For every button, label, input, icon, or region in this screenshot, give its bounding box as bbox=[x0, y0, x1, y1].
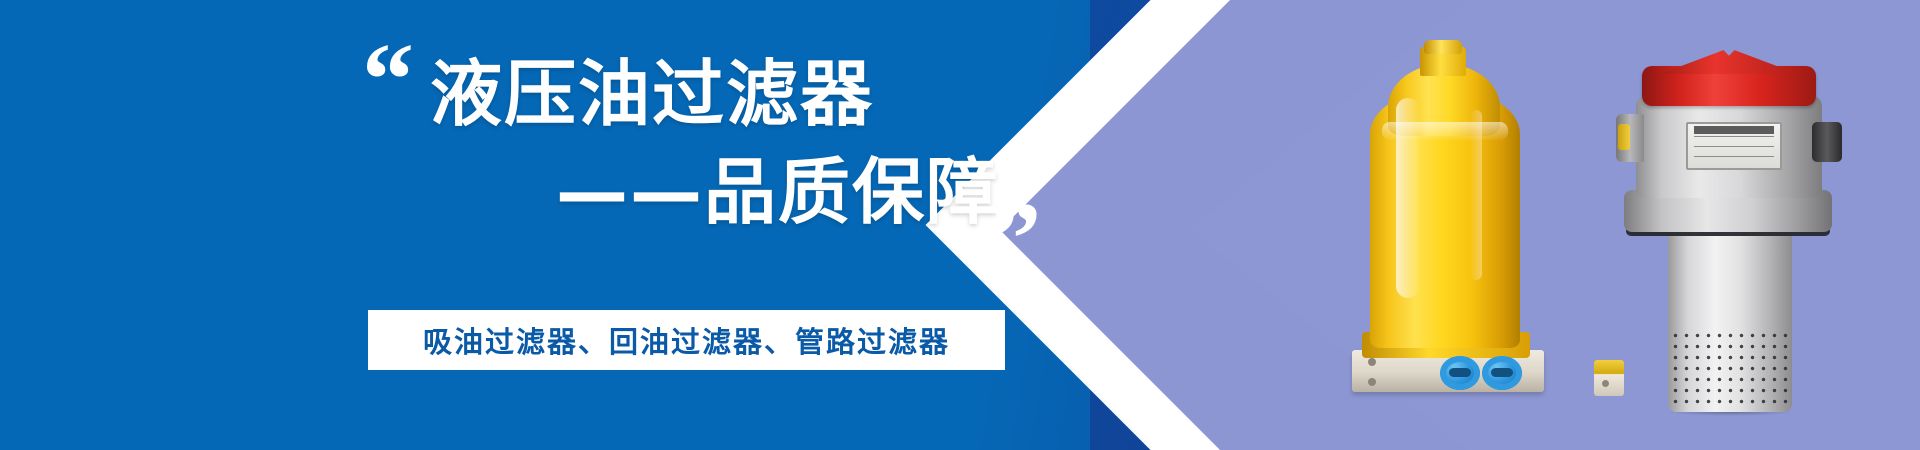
grey-filter-red-cap-peak bbox=[1660, 48, 1798, 74]
yellow-filter-port bbox=[1440, 356, 1480, 390]
headline-block: “ 液压油过滤器 ——品质保障 „ bbox=[300, 34, 1060, 274]
grey-filter-nameplate bbox=[1686, 122, 1782, 170]
yellow-filter-cap bbox=[1424, 40, 1462, 54]
headline-line-2: ——品质保障 bbox=[430, 156, 1000, 228]
product-return-line-filter bbox=[1600, 30, 1860, 430]
yellow-filter-gloss-right bbox=[1470, 110, 1482, 280]
yellow-filter-bolt bbox=[1368, 358, 1376, 366]
hydraulic-filter-banner: “ 液压油过滤器 ——品质保障 „ 吸油过滤器、回油过滤器、管路过滤器 bbox=[0, 0, 1920, 450]
grey-filter-side-knob bbox=[1812, 122, 1842, 162]
product-suction-filter-yellow bbox=[1352, 40, 1562, 400]
grey-filter-inlet-lug bbox=[1616, 114, 1644, 162]
quote-open-icon: “ bbox=[362, 28, 414, 132]
yellow-filter-gloss-left bbox=[1396, 98, 1420, 298]
headline-line-1: 液压油过滤器 bbox=[430, 58, 874, 130]
subtitle-text: 吸油过滤器、回油过滤器、管路过滤器 bbox=[423, 319, 950, 361]
quote-close-icon: „ bbox=[990, 134, 1042, 238]
grey-filter-yellow-stub bbox=[1594, 360, 1624, 396]
grey-filter-perforation-mesh bbox=[1670, 330, 1790, 410]
subtitle-box: 吸油过滤器、回油过滤器、管路过滤器 bbox=[368, 310, 1005, 370]
yellow-filter-port bbox=[1482, 356, 1522, 390]
yellow-filter-bolt bbox=[1368, 378, 1376, 386]
